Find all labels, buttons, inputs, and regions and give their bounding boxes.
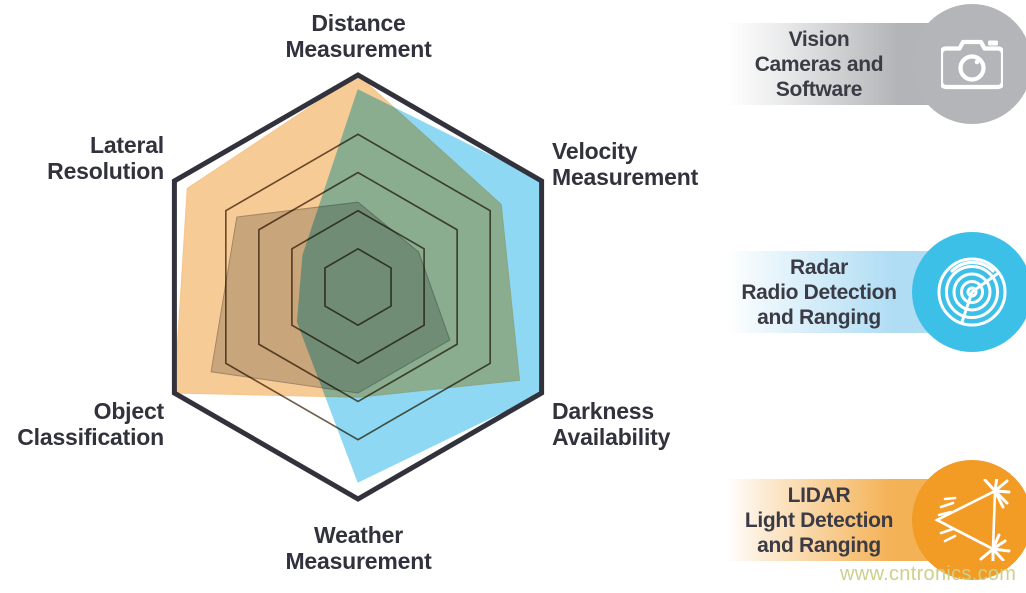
legend-label-radar: Radar Radio Detection and Ranging <box>726 252 912 332</box>
legend-circle-radar <box>912 232 1026 352</box>
radar-series-layer <box>174 75 541 482</box>
legend-item-lidar[interactable]: LIDAR Light Detection and Ranging <box>726 460 1026 580</box>
watermark: www.cntronics.com <box>840 563 1016 586</box>
radar-chart: Distance Measurement Velocity Measuremen… <box>0 0 730 593</box>
legend-circle-vision <box>912 4 1026 124</box>
infographic-root: Distance Measurement Velocity Measuremen… <box>0 0 1026 593</box>
legend-circle-lidar <box>912 460 1026 580</box>
legend-item-radar[interactable]: Radar Radio Detection and Ranging <box>726 232 1026 352</box>
laser-beam-icon <box>931 479 1013 561</box>
legend-item-vision[interactable]: Vision Cameras and Software <box>726 4 1026 124</box>
legend-label-vision: Vision Cameras and Software <box>726 24 912 104</box>
camera-icon <box>941 38 1003 90</box>
legend-label-lidar: LIDAR Light Detection and Ranging <box>726 480 912 560</box>
radar-chart-svg <box>0 0 730 593</box>
radar-waves-icon <box>935 255 1009 329</box>
